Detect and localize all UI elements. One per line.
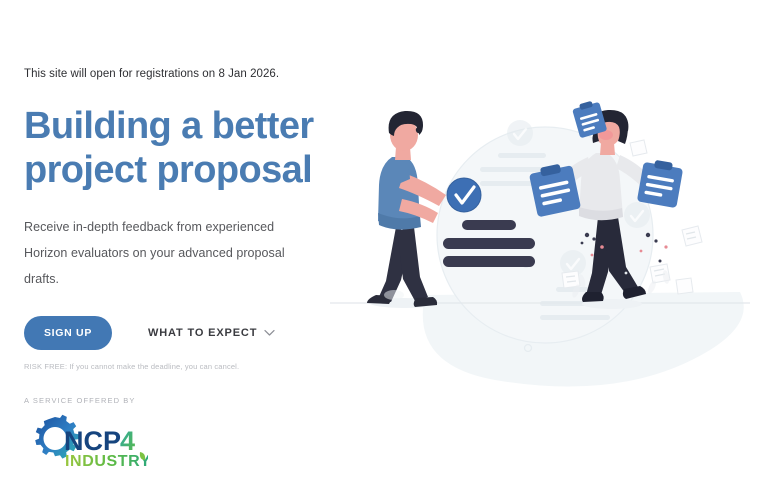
chevron-down-icon xyxy=(264,329,275,337)
sign-up-button[interactable]: SIGN UP xyxy=(24,316,112,350)
ncp4-industry-logo[interactable]: NCP 4 INDUSTRY xyxy=(24,413,148,473)
risk-free-note: RISK FREE: If you cannot make the deadli… xyxy=(24,361,344,372)
registration-notice: This site will open for registrations on… xyxy=(24,66,344,82)
check-circle-icon xyxy=(447,178,481,212)
hero-content: This site will open for registrations on… xyxy=(24,66,344,473)
page-title: Building a better project proposal xyxy=(24,104,324,192)
logo-numeral-text: 4 xyxy=(120,426,135,456)
cta-row: SIGN UP WHAT TO EXPECT xyxy=(24,316,344,350)
figure-man xyxy=(367,111,446,308)
offered-by-label: A SERVICE OFFERED BY xyxy=(24,396,344,405)
hero-illustration xyxy=(330,95,750,395)
what-to-expect-label: WHAT TO EXPECT xyxy=(148,327,257,339)
logo-primary-text: NCP xyxy=(64,426,121,456)
landing-page: This site will open for registrations on… xyxy=(0,0,770,500)
clipboard-icon xyxy=(637,158,684,208)
logo-secondary-text: INDUSTRY xyxy=(65,453,148,470)
hero-subheadline: Receive in-depth feedback from experienc… xyxy=(24,214,314,292)
what-to-expect-link[interactable]: WHAT TO EXPECT xyxy=(148,327,275,339)
